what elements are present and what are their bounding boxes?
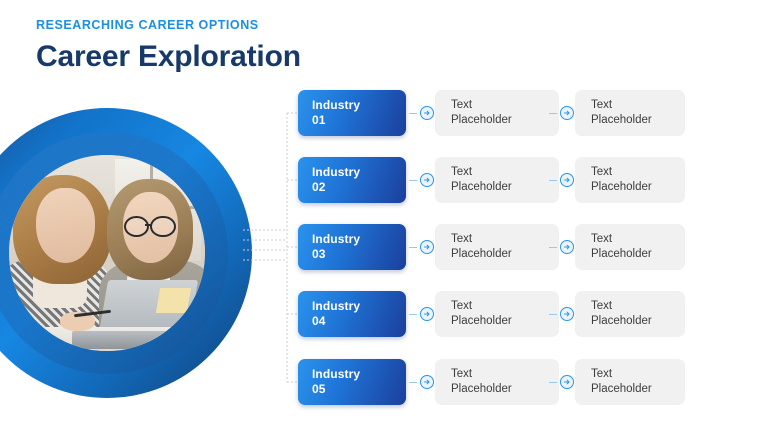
text-placeholder-card[interactable]: Text Placeholder	[435, 291, 559, 337]
industry-number: 01	[312, 113, 406, 128]
circle-arrow-right-icon	[420, 173, 434, 187]
photo-sticky-note	[156, 288, 192, 313]
connector-dash-left	[409, 113, 417, 114]
placeholder-line-1: Text	[591, 165, 685, 180]
circle-arrow-right-icon	[420, 375, 434, 389]
connector-dash-left	[549, 180, 557, 181]
page-title: Career Exploration	[36, 40, 456, 74]
diagram-row: Industry 02 Text Placeholder Text Placeh…	[243, 157, 713, 203]
connector-dash-left	[549, 314, 557, 315]
photo-glasses-right-lens	[150, 216, 176, 238]
placeholder-line-2: Placeholder	[591, 314, 685, 329]
industry-card-02[interactable]: Industry 02	[298, 157, 406, 203]
placeholder-line-1: Text	[591, 232, 685, 247]
slide-header: RESEARCHING CAREER OPTIONS Career Explor…	[36, 18, 456, 74]
placeholder-line-1: Text	[451, 367, 559, 382]
placeholder-line-2: Placeholder	[451, 247, 559, 262]
circle-arrow-right-icon	[560, 173, 574, 187]
team-photo	[9, 155, 205, 351]
text-placeholder-card[interactable]: Text Placeholder	[575, 90, 685, 136]
photo-glasses-bridge	[145, 224, 151, 226]
industry-diagram: Industry 01 Text Placeholder Text Placeh…	[243, 90, 713, 405]
text-placeholder-card[interactable]: Text Placeholder	[575, 359, 685, 405]
placeholder-line-2: Placeholder	[451, 113, 559, 128]
industry-label: Industry	[312, 165, 406, 180]
photo-laptop-base	[72, 331, 194, 349]
industry-number: 02	[312, 180, 406, 195]
connector-dash-left	[409, 247, 417, 248]
diagram-row: Industry 03 Text Placeholder Text Placeh…	[243, 224, 713, 270]
photo-ring-graphic	[0, 108, 252, 398]
circle-arrow-right-icon	[560, 375, 574, 389]
placeholder-line-2: Placeholder	[591, 113, 685, 128]
diagram-row: Industry 01 Text Placeholder Text Placeh…	[243, 90, 713, 136]
placeholder-line-1: Text	[591, 98, 685, 113]
placeholder-line-2: Placeholder	[591, 382, 685, 397]
diagram-row: Industry 05 Text Placeholder Text Placeh…	[243, 359, 713, 405]
industry-card-05[interactable]: Industry 05	[298, 359, 406, 405]
connector-dash-left	[409, 314, 417, 315]
text-placeholder-card[interactable]: Text Placeholder	[435, 90, 559, 136]
connector-dash-left	[549, 113, 557, 114]
circle-arrow-right-icon	[420, 106, 434, 120]
placeholder-line-2: Placeholder	[451, 180, 559, 195]
text-placeholder-card[interactable]: Text Placeholder	[435, 359, 559, 405]
connector-dash-left	[409, 180, 417, 181]
circle-arrow-right-icon	[420, 240, 434, 254]
industry-number: 04	[312, 314, 406, 329]
industry-label: Industry	[312, 367, 406, 382]
industry-label: Industry	[312, 299, 406, 314]
photo-person-left-face	[36, 188, 95, 262]
placeholder-line-1: Text	[451, 232, 559, 247]
placeholder-line-1: Text	[591, 367, 685, 382]
diagram-row: Industry 04 Text Placeholder Text Placeh…	[243, 291, 713, 337]
placeholder-line-2: Placeholder	[591, 247, 685, 262]
placeholder-line-2: Placeholder	[451, 382, 559, 397]
industry-number: 05	[312, 382, 406, 397]
text-placeholder-card[interactable]: Text Placeholder	[575, 224, 685, 270]
industry-card-03[interactable]: Industry 03	[298, 224, 406, 270]
circle-arrow-right-icon	[560, 106, 574, 120]
connector-dash-left	[409, 382, 417, 383]
text-placeholder-card[interactable]: Text Placeholder	[575, 157, 685, 203]
placeholder-line-1: Text	[451, 98, 559, 113]
industry-label: Industry	[312, 98, 406, 113]
slide-eyebrow: RESEARCHING CAREER OPTIONS	[36, 18, 456, 33]
text-placeholder-card[interactable]: Text Placeholder	[435, 157, 559, 203]
placeholder-line-2: Placeholder	[591, 180, 685, 195]
connector-dash-left	[549, 247, 557, 248]
industry-card-01[interactable]: Industry 01	[298, 90, 406, 136]
placeholder-line-1: Text	[451, 299, 559, 314]
circle-arrow-right-icon	[560, 240, 574, 254]
placeholder-line-1: Text	[591, 299, 685, 314]
connector-dash-left	[549, 382, 557, 383]
circle-arrow-right-icon	[560, 307, 574, 321]
circle-arrow-right-icon	[420, 307, 434, 321]
text-placeholder-card[interactable]: Text Placeholder	[435, 224, 559, 270]
placeholder-line-1: Text	[451, 165, 559, 180]
text-placeholder-card[interactable]: Text Placeholder	[575, 291, 685, 337]
industry-number: 03	[312, 247, 406, 262]
industry-label: Industry	[312, 232, 406, 247]
placeholder-line-2: Placeholder	[451, 314, 559, 329]
industry-card-04[interactable]: Industry 04	[298, 291, 406, 337]
